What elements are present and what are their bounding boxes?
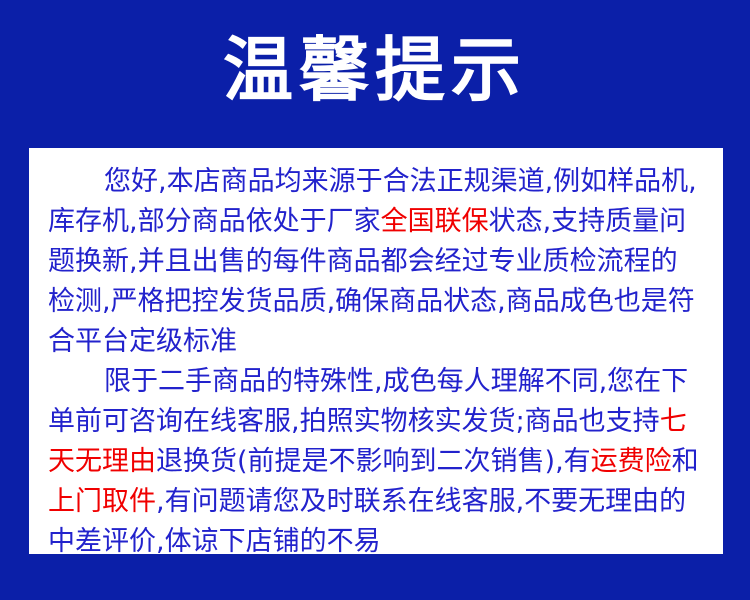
notice-text: 和 [672, 446, 699, 477]
highlighted-term: 运费险 [591, 446, 672, 477]
highlighted-term: 上门取件 [48, 486, 156, 517]
notice-banner: 温馨提示 您好,本店商品均来源于合法正规渠道,例如样品机,库存机,部分商品依处于… [0, 0, 750, 600]
paragraph-1: 您好,本店商品均来源于合法正规渠道,例如样品机,库存机,部分商品依处于厂家全国联… [29, 162, 701, 362]
notice-text: 退换货(前提是不影响到二次销售),有 [156, 446, 591, 477]
highlighted-term: 全国联保 [381, 206, 489, 237]
page-title: 温馨提示 [0, 28, 750, 112]
notice-panel: 您好,本店商品均来源于合法正规渠道,例如样品机,库存机,部分商品依处于厂家全国联… [29, 148, 723, 554]
notice-text: 限于二手商品的特殊性,成色每人理解不同,您在下单前可咨询在线客服,拍照实物核实发… [48, 366, 688, 437]
notice-body: 您好,本店商品均来源于合法正规渠道,例如样品机,库存机,部分商品依处于厂家全国联… [29, 162, 723, 554]
paragraph-2: 限于二手商品的特殊性,成色每人理解不同,您在下单前可咨询在线客服,拍照实物核实发… [29, 362, 701, 554]
